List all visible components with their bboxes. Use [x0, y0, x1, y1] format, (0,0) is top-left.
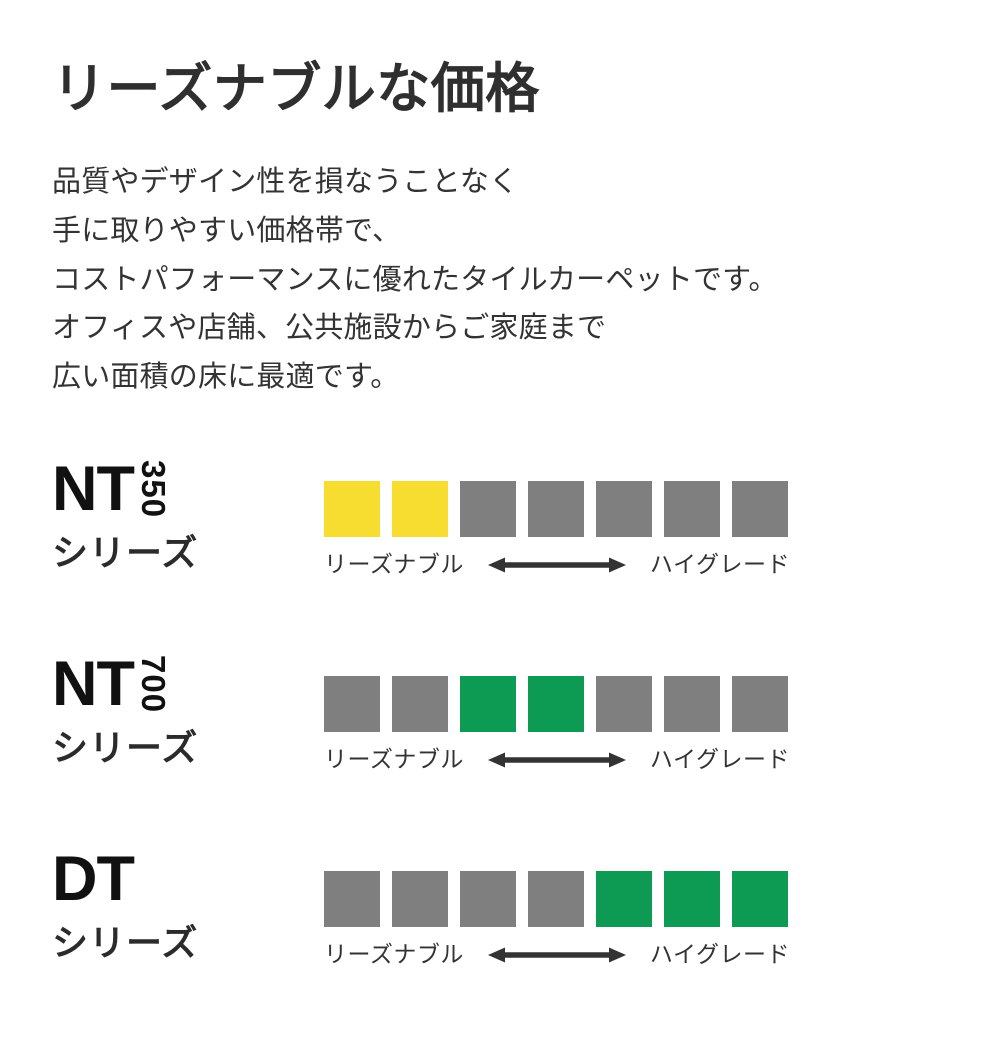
swatch: [324, 676, 380, 732]
swatch-track: [324, 871, 790, 927]
swatch: [392, 871, 448, 927]
series-code: NT: [52, 459, 134, 519]
double-arrow-horizontal-icon: [464, 750, 650, 770]
series-label: NT700シリーズ: [52, 654, 292, 766]
series-label: DTシリーズ: [52, 849, 292, 961]
series-list: NT350シリーズリーズナブルハイグレードNT700シリーズリーズナブルハイグレ…: [0, 455, 1000, 1040]
swatch: [732, 676, 788, 732]
series-row: DTシリーズリーズナブルハイグレード: [0, 845, 1000, 1040]
series-number: 700: [137, 655, 170, 717]
price-positioning-graphic: リーズナブルな価格 品質やデザイン性を損なうことなく手に取りやすい価格帯で、コス…: [0, 0, 1000, 1000]
description-line: 手に取りやすい価格帯で、: [52, 207, 952, 256]
series-code: NT: [52, 654, 134, 714]
series-suffix: シリーズ: [52, 730, 292, 766]
price-scale: リーズナブルハイグレード: [324, 871, 790, 966]
page-title: リーズナブルな価格: [52, 58, 952, 120]
swatch: [528, 676, 584, 732]
legend-low-label: リーズナブル: [324, 553, 464, 576]
double-arrow-horizontal-icon: [464, 555, 650, 575]
header: リーズナブルな価格 品質やデザイン性を損なうことなく手に取りやすい価格帯で、コス…: [52, 58, 952, 402]
series-label: NT350シリーズ: [52, 459, 292, 571]
swatch: [732, 871, 788, 927]
price-scale: リーズナブルハイグレード: [324, 676, 790, 771]
series-name-line: NT350: [52, 459, 292, 521]
swatch-track: [324, 676, 790, 732]
series-row: NT700シリーズリーズナブルハイグレード: [0, 650, 1000, 845]
series-row: NT350シリーズリーズナブルハイグレード: [0, 455, 1000, 650]
legend-high-label: ハイグレード: [650, 553, 790, 576]
swatch: [732, 481, 788, 537]
swatch: [460, 676, 516, 732]
swatch-track: [324, 481, 790, 537]
swatch: [664, 676, 720, 732]
description-line: コストパフォーマンスに優れたタイルカーペットです。: [52, 256, 952, 305]
description-line: 広い面積の床に最適です。: [52, 353, 952, 402]
series-code: DT: [52, 849, 134, 909]
swatch: [528, 481, 584, 537]
legend-low-label: リーズナブル: [324, 943, 464, 966]
swatch: [596, 481, 652, 537]
series-suffix: シリーズ: [52, 925, 292, 961]
series-suffix: シリーズ: [52, 535, 292, 571]
swatch: [664, 481, 720, 537]
double-arrow-horizontal-icon: [464, 945, 650, 965]
scale-legend: リーズナブルハイグレード: [324, 553, 790, 576]
price-scale: リーズナブルハイグレード: [324, 481, 790, 576]
swatch: [324, 481, 380, 537]
swatch: [596, 871, 652, 927]
series-name-line: NT700: [52, 654, 292, 716]
swatch: [460, 481, 516, 537]
legend-low-label: リーズナブル: [324, 748, 464, 771]
swatch: [664, 871, 720, 927]
series-name-line: DT: [52, 849, 292, 911]
scale-legend: リーズナブルハイグレード: [324, 748, 790, 771]
legend-high-label: ハイグレード: [650, 943, 790, 966]
swatch: [528, 871, 584, 927]
legend-high-label: ハイグレード: [650, 748, 790, 771]
description-block: 品質やデザイン性を損なうことなく手に取りやすい価格帯で、コストパフォーマンスに優…: [52, 158, 952, 402]
swatch: [460, 871, 516, 927]
series-number: 350: [137, 460, 170, 522]
swatch: [324, 871, 380, 927]
description-line: オフィスや店舗、公共施設からご家庭まで: [52, 304, 952, 353]
scale-legend: リーズナブルハイグレード: [324, 943, 790, 966]
swatch: [596, 676, 652, 732]
swatch: [392, 481, 448, 537]
swatch: [392, 676, 448, 732]
description-line: 品質やデザイン性を損なうことなく: [52, 158, 952, 207]
